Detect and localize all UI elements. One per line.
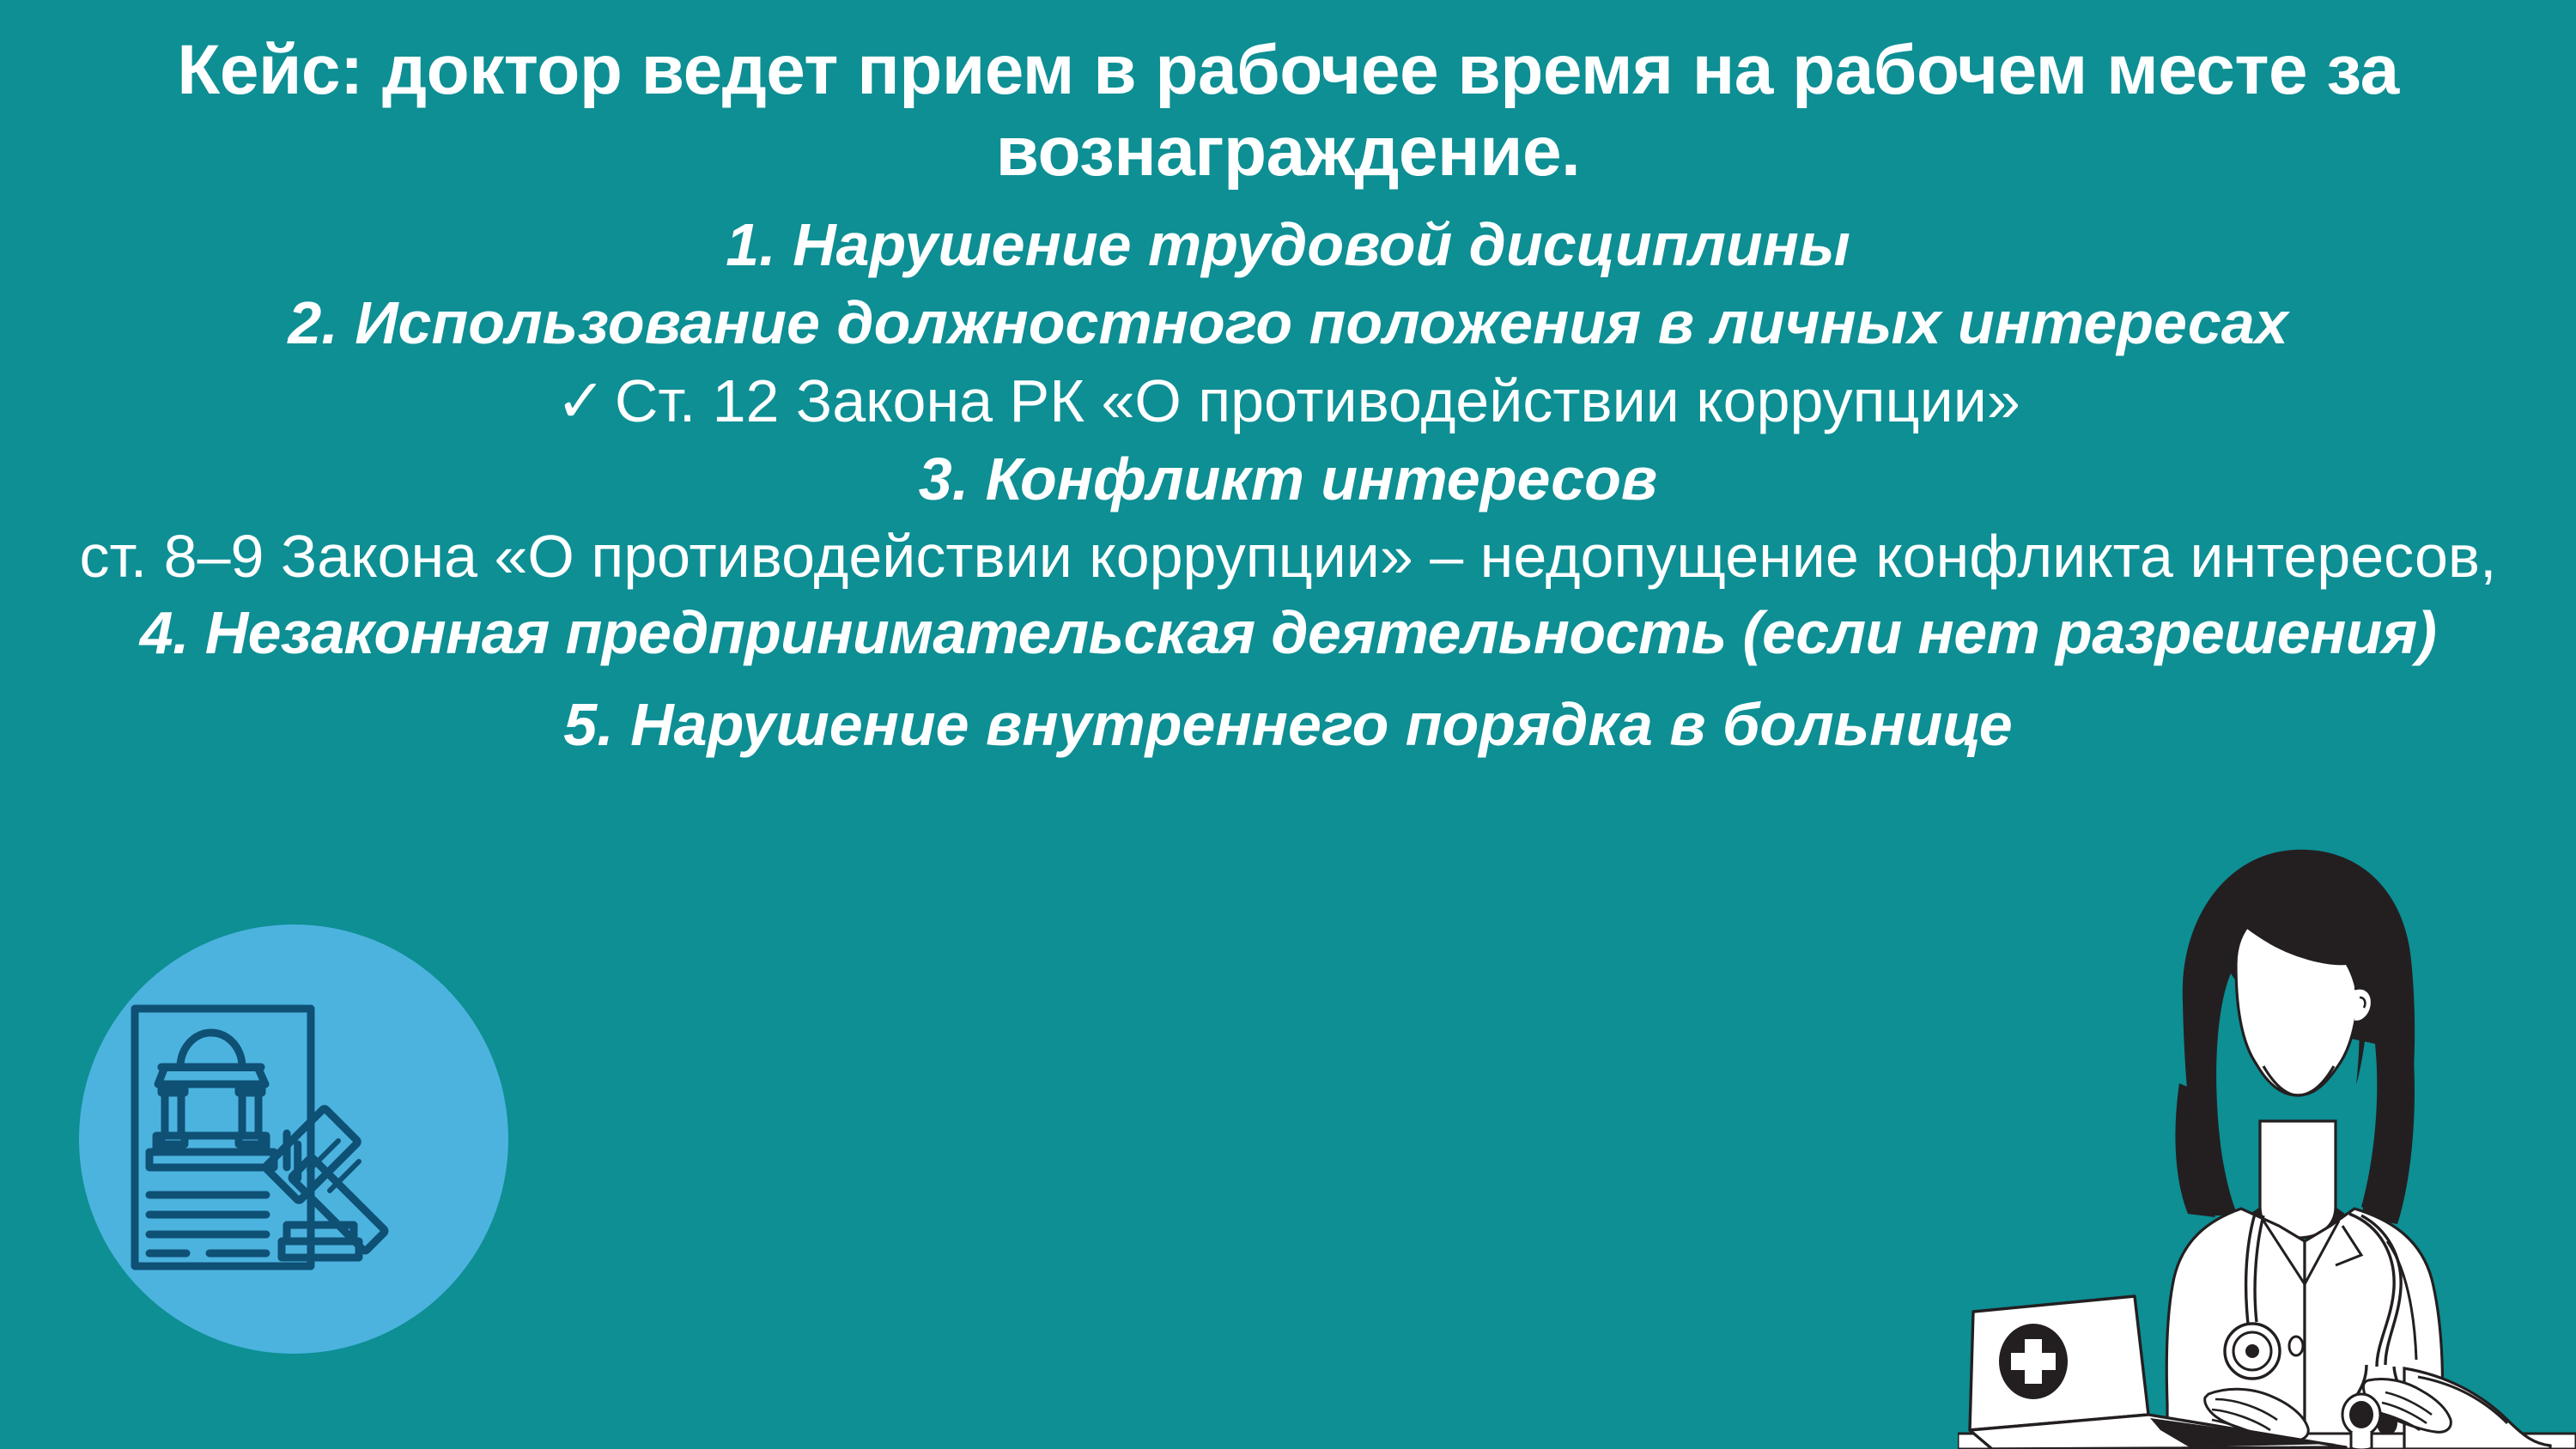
slide-text-block: Кейс: доктор ведет прием в рабочее время… <box>0 0 2576 764</box>
slide-canvas: Кейс: доктор ведет прием в рабочее время… <box>0 0 2576 1449</box>
list-item-4: 4. Незаконная предпринимательская деятел… <box>17 594 2559 672</box>
list-item-5: 5. Нарушение внутреннего порядка в больн… <box>52 686 2524 764</box>
law-reference-1: ✓Ст. 12 Закона РК «О противодействии кор… <box>52 362 2524 440</box>
law-reference-1-label: Ст. 12 Закона РК «О противодействии корр… <box>615 367 2020 434</box>
list-item-2: 2. Использование должностного положения … <box>52 284 2524 362</box>
female-doctor-at-laptop-illustration <box>1958 838 2576 1449</box>
spacer <box>0 672 2576 686</box>
list-item-1: 1. Нарушение трудовой дисциплины <box>52 206 2524 284</box>
law-document-gavel-icon <box>79 925 508 1354</box>
page-title: Кейс: доктор ведет прием в рабочее время… <box>129 29 2447 192</box>
law-reference-2: ст. 8–9 Закона «О противодействии корруп… <box>77 518 2499 594</box>
check-icon: ✓ <box>556 362 606 440</box>
list-item-3: 3. Конфликт интересов <box>52 440 2524 518</box>
spacer <box>0 192 2576 206</box>
